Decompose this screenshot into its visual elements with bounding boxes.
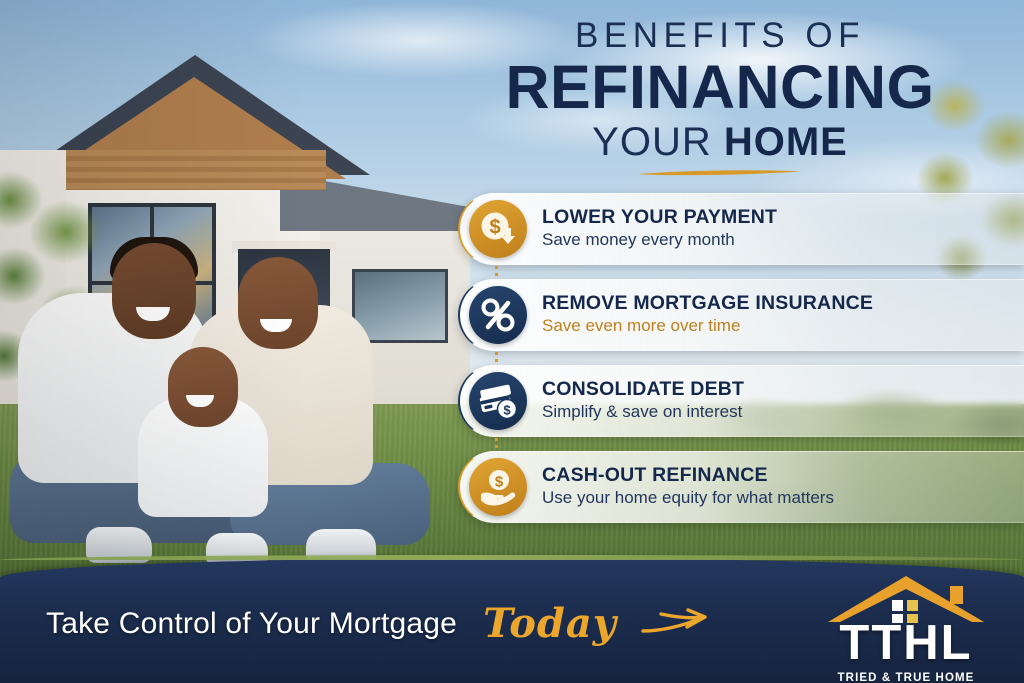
infographic-canvas: BENEFITS OF REFINANCING YOUR HOME $ LOWE… <box>0 0 1024 683</box>
benefit-title: CASH-OUT REFINANCE <box>542 465 834 487</box>
benefit-card-lower-your-payment[interactable]: $ LOWER YOUR PAYMENT Save money every mo… <box>458 193 1024 265</box>
svg-text:$: $ <box>503 403 511 418</box>
benefit-subtitle: Simplify & save on interest <box>542 402 744 422</box>
credit-cards-coin-icon: $ <box>469 372 527 430</box>
gold-swoosh-underline-icon <box>636 168 804 177</box>
benefit-subtitle: Use your home equity for what matters <box>542 488 834 508</box>
benefit-card-remove-mortgage-insurance[interactable]: REMOVE MORTGAGE INSURANCE Save even more… <box>458 279 1024 351</box>
benefit-subtitle: Save even more over time <box>542 316 873 336</box>
card-connector-dots <box>495 438 498 452</box>
family-group <box>10 215 430 595</box>
company-logo[interactable]: TTHL TRIED & TRUE HOME LOANS <box>816 572 996 683</box>
child-head <box>168 347 238 427</box>
call-to-action: Take Control of Your Mortgage Today <box>46 600 711 647</box>
benefit-card-consolidate-debt[interactable]: $ CONSOLIDATE DEBT Simplify & save on in… <box>458 365 1024 437</box>
mother-head <box>238 257 318 349</box>
benefit-card-cash-out-refinance[interactable]: $ CASH-OUT REFINANCE Use your home equit… <box>458 451 1024 523</box>
headline-line-3-bold: HOME <box>724 120 848 164</box>
benefit-text: CONSOLIDATE DEBT Simplify & save on inte… <box>542 379 744 422</box>
headline-line-1: BENEFITS OF <box>430 18 1010 55</box>
benefit-subtitle: Save money every month <box>542 230 777 250</box>
benefit-title: LOWER YOUR PAYMENT <box>542 207 777 229</box>
benefit-title: REMOVE MORTGAGE INSURANCE <box>542 293 873 315</box>
benefit-text: CASH-OUT REFINANCE Use your home equity … <box>542 465 834 508</box>
svg-text:$: $ <box>489 217 500 239</box>
cta-text: Take Control of Your Mortgage <box>46 607 457 641</box>
hand-drawn-right-arrow-icon <box>639 607 711 641</box>
benefit-title: CONSOLIDATE DEBT <box>542 379 744 401</box>
percent-icon <box>469 286 527 344</box>
benefits-list: $ LOWER YOUR PAYMENT Save money every mo… <box>458 193 1024 537</box>
logo-tagline: TRIED & TRUE HOME LOANS <box>816 672 996 683</box>
benefit-text: LOWER YOUR PAYMENT Save money every mont… <box>542 207 777 250</box>
father-head <box>112 243 196 339</box>
cta-accent-today: Today <box>483 600 617 647</box>
headline-line-2: REFINANCING <box>430 56 1010 118</box>
dollar-coin-down-arrow-icon: $ <box>469 200 527 258</box>
card-connector-dots <box>495 352 498 366</box>
benefit-text: REMOVE MORTGAGE INSURANCE Save even more… <box>542 293 873 336</box>
hand-holding-coin-icon: $ <box>469 458 527 516</box>
headline-line-3-plain: YOUR <box>592 120 724 164</box>
headline-line-3: YOUR HOME <box>430 120 1010 164</box>
logo-wordmark: TTHL <box>816 620 996 667</box>
footer-bar: Take Control of Your Mortgage Today TTHL… <box>0 558 1024 683</box>
headline-block: BENEFITS OF REFINANCING YOUR HOME <box>430 18 1010 182</box>
card-connector-dots <box>495 266 498 280</box>
svg-text:$: $ <box>495 474 504 491</box>
